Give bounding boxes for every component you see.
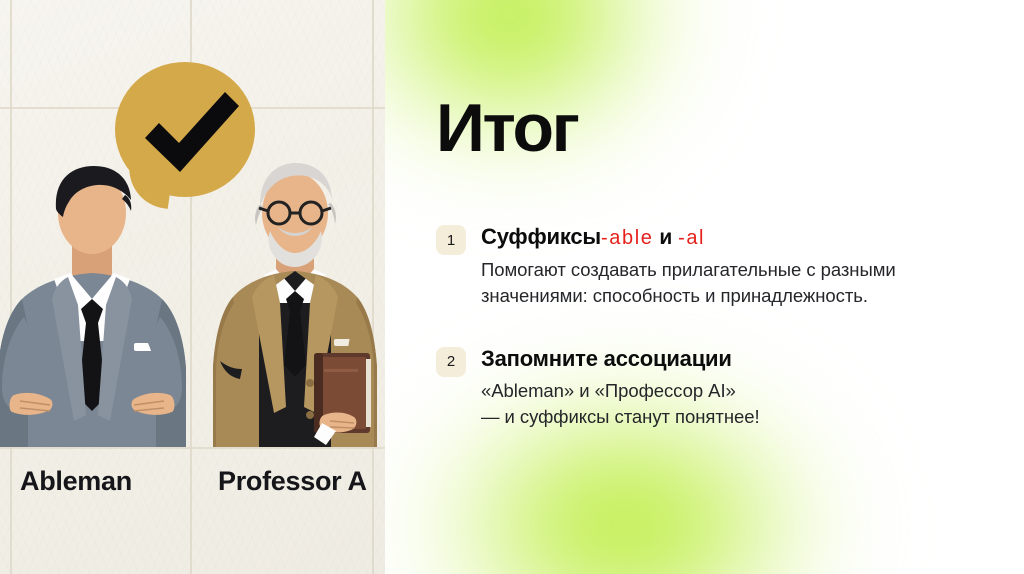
list-item: 1 Суффиксы-able и -al Помогают создавать… bbox=[436, 224, 956, 310]
point-title: Суффиксы-able и -al bbox=[481, 224, 896, 250]
point-number-badge: 1 bbox=[436, 225, 466, 255]
point-text: «Ableman» и «Профессор AI» — и суффиксы … bbox=[481, 378, 760, 431]
point-text-line: «Ableman» и «Профессор AI» bbox=[481, 378, 760, 404]
speech-bubble-icon bbox=[115, 62, 260, 217]
content-panel: Итог 1 Суффиксы-able и -al Помогают созд… bbox=[385, 0, 1024, 574]
slide: Ableman Professor A Итог 1 Суффиксы-able… bbox=[0, 0, 1024, 574]
list-item: 2 Запомните ассоциации «Ableman» и «Проф… bbox=[436, 346, 956, 431]
grid-line-horizontal bbox=[0, 447, 385, 449]
point-text-line: Помогают создавать прилагательные с разн… bbox=[481, 257, 896, 283]
point-title: Запомните ассоциации bbox=[481, 346, 760, 371]
suffix-al: -al bbox=[678, 227, 705, 249]
point-text-line: значениями: способность и принадлежность… bbox=[481, 283, 896, 309]
illustration-panel: Ableman Professor A bbox=[0, 0, 385, 574]
point-title-prefix: Запомните ассоциации bbox=[481, 346, 732, 371]
conjunction: и bbox=[659, 226, 672, 249]
point-number-badge: 2 bbox=[436, 347, 466, 377]
point-body: Запомните ассоциации «Ableman» и «Профес… bbox=[481, 346, 760, 431]
point-title-prefix: Суффиксы bbox=[481, 224, 601, 249]
figure-caption-professor: Professor A bbox=[218, 466, 367, 497]
figure-caption-ableman: Ableman bbox=[20, 466, 132, 497]
point-body: Суффиксы-able и -al Помогают создавать п… bbox=[481, 224, 896, 310]
page-title: Итог bbox=[436, 96, 578, 161]
check-mark-icon bbox=[139, 80, 243, 180]
point-text-line: — и суффиксы станут понятнее! bbox=[481, 404, 760, 430]
points-list: 1 Суффиксы-able и -al Помогают создавать… bbox=[436, 224, 956, 431]
suffix-able: -able bbox=[601, 227, 653, 249]
point-text: Помогают создавать прилагательные с разн… bbox=[481, 257, 896, 310]
